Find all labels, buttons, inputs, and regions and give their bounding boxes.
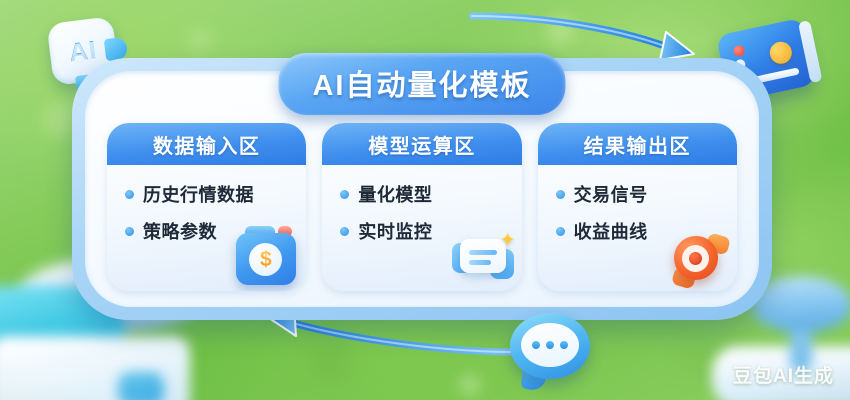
list-item-label: 交易信号: [574, 181, 648, 207]
list-item: 量化模型: [340, 181, 521, 207]
watermark: 豆包AI生成: [733, 361, 834, 388]
target-bullseye-icon: [667, 231, 729, 287]
sparkle-icon: ✦: [500, 229, 516, 252]
page-title-pill: AI自动量化模板: [278, 53, 565, 115]
bullet-dot-icon: [556, 227, 565, 236]
list-item-label: 历史行情数据: [143, 181, 254, 207]
list-item-label: 策略参数: [143, 218, 217, 244]
list-item-label: 收益曲线: [574, 218, 648, 244]
column-header: 模型运算区: [322, 123, 521, 165]
page-title: AI自动量化模板: [312, 70, 531, 102]
chat-bubble-dot: [560, 341, 568, 349]
money-camera-icon: $: [236, 233, 296, 285]
target-icon-core: [674, 236, 718, 280]
card-icon-red-dot: [732, 44, 745, 57]
column-title: 模型运算区: [368, 130, 476, 159]
list-item: 历史行情数据: [125, 181, 306, 207]
list-item: 交易信号: [556, 181, 737, 207]
chat-bubble-dots-icon: [510, 313, 590, 379]
bullet-dot-icon: [556, 190, 565, 199]
list-item-label: 量化模型: [358, 181, 432, 207]
bullet-dot-icon: [125, 190, 134, 199]
column-data-input: 数据输入区 历史行情数据 策略参数: [107, 123, 306, 291]
bullet-dot-icon: [125, 227, 134, 236]
card-icon-yellow-circle: [768, 40, 794, 66]
column-model-compute: 模型运算区 量化模型 实时监控: [322, 123, 521, 291]
column-list: 数据输入区 历史行情数据 策略参数: [107, 123, 737, 291]
column-result-output: 结果输出区 交易信号 收益曲线: [538, 123, 737, 291]
bullet-dot-icon: [340, 227, 349, 236]
target-icon-ring: [682, 245, 709, 272]
chat-bubble-dot: [546, 341, 554, 349]
chat-bubble-inner: [521, 323, 579, 367]
dollar-sign-icon: $: [260, 248, 272, 272]
column-title: 结果输出区: [584, 130, 692, 159]
chat-icon-line: [469, 250, 497, 255]
column-header: 数据输入区: [107, 123, 306, 165]
chat-bubble-dot: [532, 341, 540, 349]
column-header: 结果输出区: [538, 123, 737, 165]
bullet-dot-icon: [340, 190, 349, 199]
chat-message-sparkle-icon: ✦: [452, 233, 514, 287]
panel-inner: AI自动量化模板 数据输入区 历史行情数据 策略: [85, 71, 759, 307]
screenshot-root: AI AI自动量化模板 数据输入区: [0, 0, 850, 400]
column-title: 数据输入区: [153, 130, 261, 159]
chat-icon-line: [469, 260, 491, 265]
main-panel: AI自动量化模板 数据输入区 历史行情数据 策略: [72, 58, 772, 320]
list-item-label: 实时监控: [358, 218, 432, 244]
target-icon-bullseye: [689, 252, 702, 265]
ai-badge-label: AI: [67, 34, 99, 68]
